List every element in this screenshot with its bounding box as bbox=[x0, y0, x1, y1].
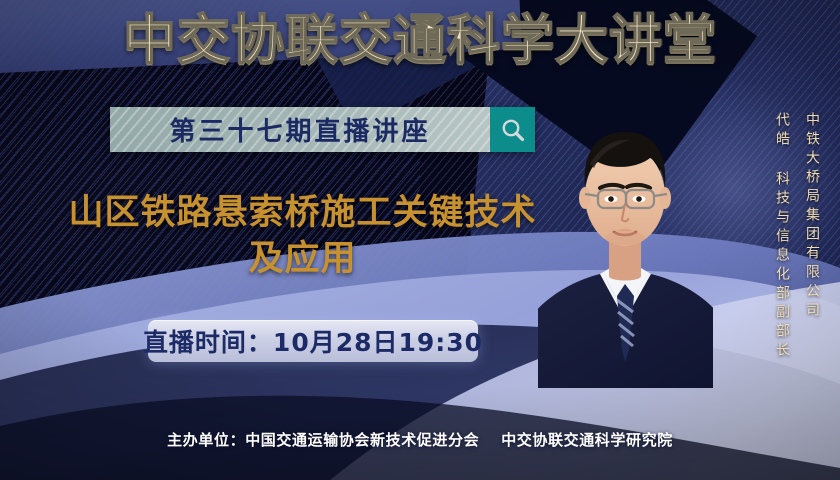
footer-prefix: 主办单位： bbox=[167, 431, 245, 449]
subtitle-banner-label: 第三十七期直播讲座 bbox=[169, 111, 430, 148]
lecture-topic-line1: 山区铁路悬索桥施工关键技术 bbox=[30, 190, 575, 236]
footer-organizers: 主办单位：中国交通运输协会新技术促进分会中交协联交通科学研究院 bbox=[0, 429, 840, 450]
search-icon bbox=[500, 117, 526, 143]
subtitle-banner: 第三十七期直播讲座 bbox=[110, 107, 535, 152]
search-icon-box[interactable] bbox=[490, 107, 535, 152]
lecture-topic: 山区铁路悬索桥施工关键技术 及应用 bbox=[30, 190, 575, 282]
footer-org-2: 中交协联交通科学研究院 bbox=[501, 431, 673, 449]
speaker-organization: 中铁大桥局集团有限公司 bbox=[802, 112, 822, 321]
webinar-poster: 中交协联交通科学大讲堂 第三十七期直播讲座 山区铁路悬索桥施工关键技术 及应用 … bbox=[0, 0, 840, 480]
lecture-topic-line2: 及应用 bbox=[30, 236, 575, 282]
footer-org-1: 中国交通运输协会新技术促进分会 bbox=[245, 431, 479, 449]
broadcast-time-pill: 直播时间：10月28日19:30 bbox=[148, 320, 478, 362]
subtitle-banner-bar: 第三十七期直播讲座 bbox=[110, 107, 490, 152]
broadcast-time-text: 直播时间：10月28日19:30 bbox=[143, 323, 483, 359]
page-title: 中交协联交通科学大讲堂 bbox=[0, 14, 840, 67]
page-title-text: 中交协联交通科学大讲堂 bbox=[123, 10, 717, 71]
speaker-name-title: 代皓 科技与信息化部副部长 bbox=[772, 112, 792, 361]
